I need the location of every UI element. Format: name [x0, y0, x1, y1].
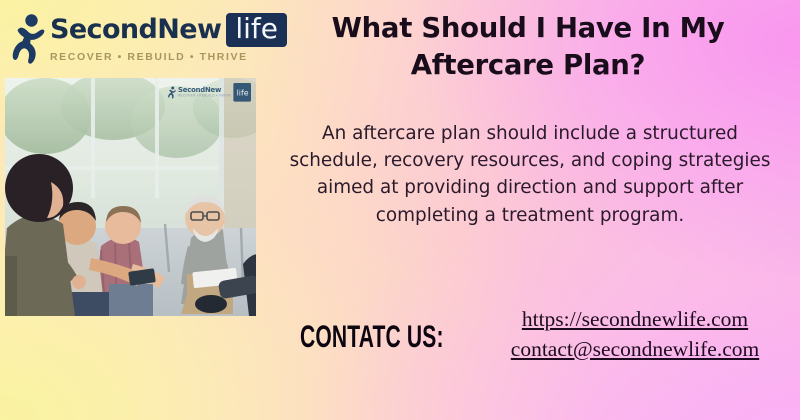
watermark-person-icon [167, 86, 176, 99]
contact-section: CONTATC US: https://secondnewlife.com co… [300, 305, 780, 364]
watermark-tagline: RECOVER • REBUILD • THRIVE [178, 95, 232, 98]
group-therapy-photo: SecondNew RECOVER • REBUILD • THRIVE lif… [5, 78, 256, 316]
watermark-badge-label: life [236, 89, 248, 98]
brand-name-row: SecondNew life [50, 13, 287, 46]
person-raised-arms-icon [12, 12, 46, 64]
contact-label: CONTATC US: [300, 321, 448, 353]
photo-watermark: SecondNew RECOVER • REBUILD • THRIVE lif… [167, 83, 251, 102]
photo-illustration [5, 78, 256, 316]
page-title: What Should I Have In My Aftercare Plan? [268, 10, 788, 83]
watermark-badge: life [233, 83, 251, 102]
brand-logo[interactable]: SecondNew life RECOVER • REBUILD • THRIV… [12, 8, 264, 68]
watermark-name: SecondNew [178, 87, 232, 94]
watermark-text: SecondNew RECOVER • REBUILD • THRIVE [178, 87, 232, 98]
brand-name-primary: SecondNew [50, 16, 221, 43]
contact-website-link[interactable]: https://secondnewlife.com [522, 305, 748, 335]
brand-tagline: RECOVER • REBUILD • THRIVE [50, 51, 287, 63]
poster-canvas: SecondNew life RECOVER • REBUILD • THRIV… [0, 0, 800, 420]
brand-logo-text: SecondNew life RECOVER • REBUILD • THRIV… [50, 13, 287, 62]
contact-links: https://secondnewlife.com contact@second… [490, 305, 780, 364]
contact-email-link[interactable]: contact@secondnewlife.com [511, 335, 759, 365]
body-paragraph: An aftercare plan should include a struc… [276, 120, 784, 229]
